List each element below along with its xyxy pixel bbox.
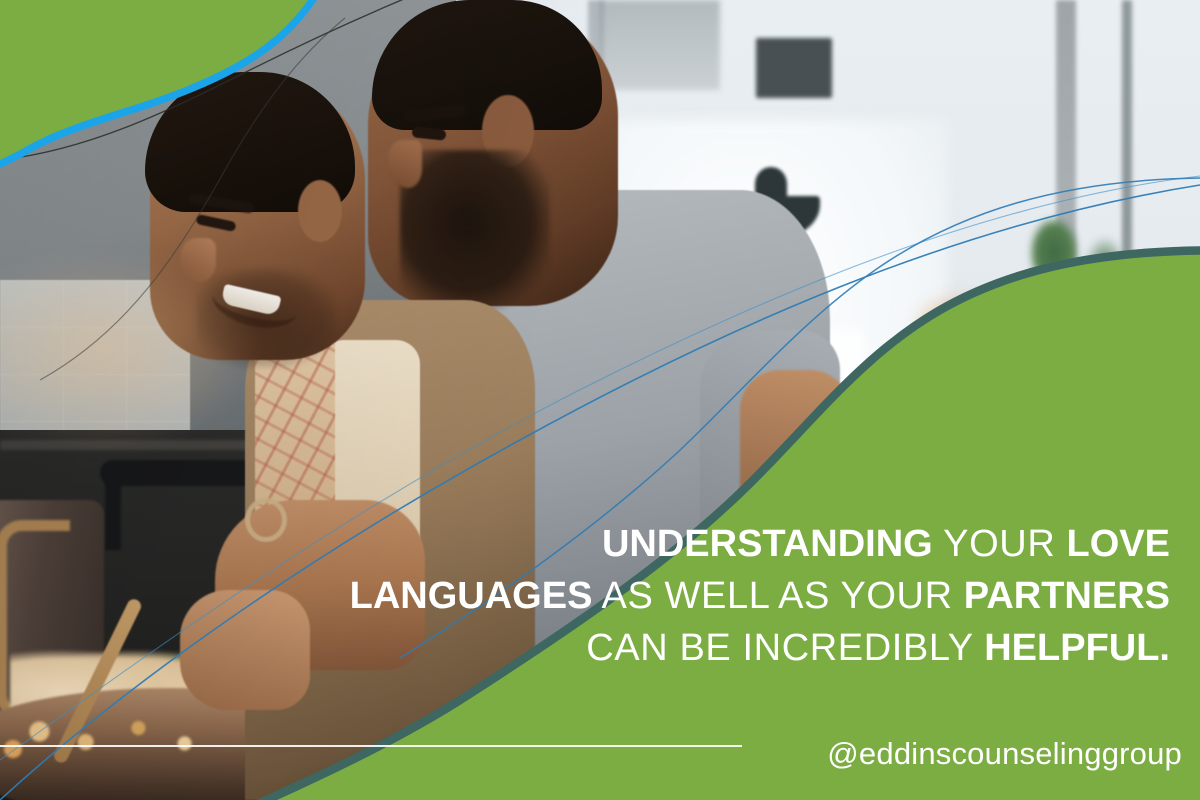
- quote-word-love: LOVE: [1067, 523, 1170, 565]
- quote-word-languages: LANGUAGES: [350, 575, 593, 617]
- quote-phrase-aswellas: AS WELL AS YOUR: [592, 575, 963, 617]
- quote-line-1: UNDERSTANDING YOUR LOVE: [340, 518, 1170, 570]
- social-handle[interactable]: @eddinscounselinggroup: [827, 736, 1182, 772]
- photo-vignette: [0, 0, 1200, 800]
- footer-divider: [0, 745, 742, 747]
- quote-phrase-canbe: CAN BE INCREDIBLY: [586, 627, 984, 669]
- footer-handle-row: @eddinscounselinggroup: [827, 736, 1182, 772]
- quote-line-3: CAN BE INCREDIBLY HELPFUL.: [340, 622, 1170, 674]
- background-photo: [0, 0, 1200, 800]
- quote-word-partners: PARTNERS: [964, 575, 1170, 617]
- quote-word-helpful: HELPFUL.: [984, 627, 1170, 669]
- quote-word-understanding: UNDERSTANDING: [602, 523, 933, 565]
- quote-card: UNDERSTANDING YOUR LOVE LANGUAGES AS WEL…: [0, 0, 1200, 800]
- quote-text-block: UNDERSTANDING YOUR LOVE LANGUAGES AS WEL…: [340, 518, 1170, 674]
- quote-word-your: YOUR: [933, 523, 1067, 565]
- quote-line-2: LANGUAGES AS WELL AS YOUR PARTNERS: [340, 570, 1170, 622]
